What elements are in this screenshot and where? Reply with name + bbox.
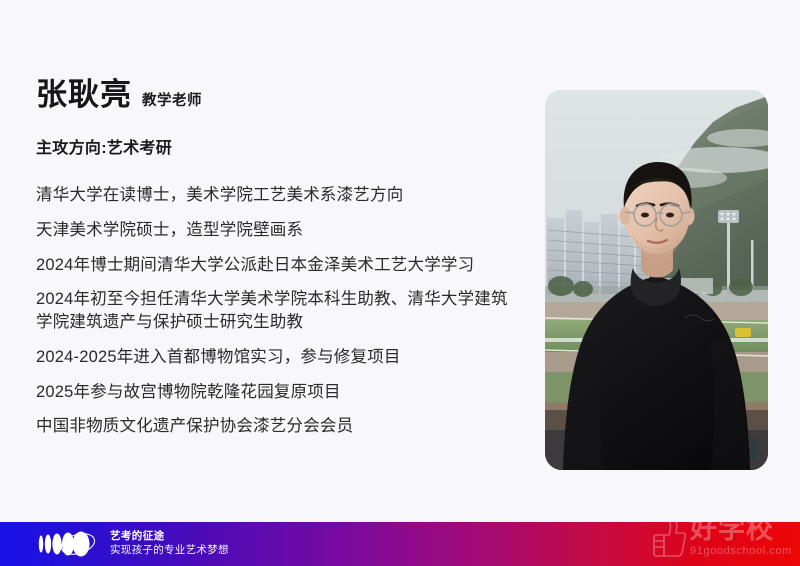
profile-content: 张耿亮 教学老师 主攻方向:艺术考研 清华大学在读博士，美术学院工艺美术系漆艺方… [36,78,526,438]
list-item: 2024-2025年进入首都博物馆实习，参与修复项目 [36,346,516,369]
list-item: 2025年参与故宫博物院乾隆花园复原项目 [36,381,516,404]
focus-direction-label: 主攻方向:艺术考研 [36,134,526,158]
list-item: 2024年博士期间清华大学公派赴日本金泽美术工艺大学学习 [36,254,516,277]
site-watermark: 好学校 91goodschool.com [652,522,792,557]
watermark-brand-name: 好学校 [690,522,792,543]
footer-brand-bar: 艺考的征途 实现孩子的专业艺术梦想 好学校 91goodschool.com [0,522,800,566]
watermark-brand-url: 91goodschool.com [690,546,792,557]
list-item: 2024年初至今担任清华大学美术学院本科生助教、清华大学建筑学院建筑遗产与保护硕… [36,288,516,334]
teacher-role-label: 教学老师 [142,89,202,110]
footer-brand-subtitle: 实现孩子的专业艺术梦想 [110,544,229,558]
footer-brand-text: 艺考的征途 实现孩子的专业艺术梦想 [110,530,229,558]
orbit-ellipses-logo-icon [36,529,98,559]
footer-brand-title: 艺考的征途 [110,530,229,544]
name-row: 张耿亮 教学老师 [36,78,526,112]
portrait-illustration [545,90,768,470]
thumbs-up-icon [652,522,686,557]
teacher-name: 张耿亮 [36,78,132,112]
watermark-text: 好学校 91goodschool.com [690,522,792,557]
list-item: 天津美术学院硕士，造型学院壁画系 [36,219,516,242]
teacher-profile-poster: 张耿亮 教学老师 主攻方向:艺术考研 清华大学在读博士，美术学院工艺美术系漆艺方… [0,0,800,566]
list-item: 中国非物质文化遗产保护协会漆艺分会会员 [36,415,516,438]
list-item: 清华大学在读博士，美术学院工艺美术系漆艺方向 [36,184,516,207]
biography-list: 清华大学在读博士，美术学院工艺美术系漆艺方向 天津美术学院硕士，造型学院壁画系 … [36,184,526,438]
teacher-portrait-photo [545,90,768,470]
